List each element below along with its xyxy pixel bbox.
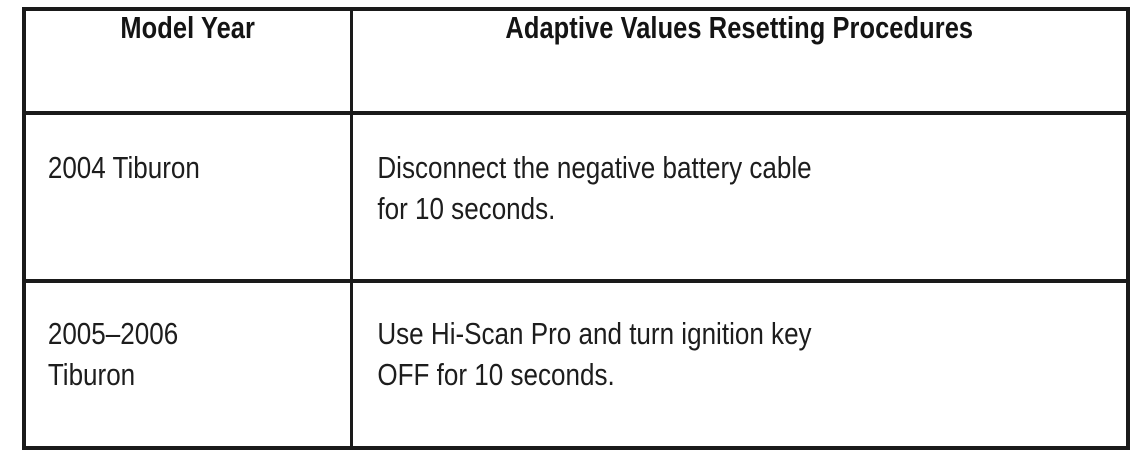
cell-procedure-text: Use Hi-Scan Pro and turn ignition key OF… [353,283,1003,395]
column-header-procedures-label: Adaptive Values Resetting Procedures [422,11,1056,45]
table-body: 2004 Tiburon Disconnect the negative bat… [24,113,1128,448]
cell-procedure: Disconnect the negative battery cable fo… [351,113,1128,281]
figure-canvas: Model Year Adaptive Values Resetting Pro… [0,0,1147,461]
cell-procedure: Use Hi-Scan Pro and turn ignition key OF… [351,281,1128,449]
column-header-model-year: Model Year [53,9,321,113]
table-header-row: Model Year Adaptive Values Resetting Pro… [24,9,1128,113]
cell-model-year: 2004 Tiburon [24,113,351,281]
cell-procedure-text: Disconnect the negative battery cable fo… [353,115,1003,229]
column-header-procedures: Adaptive Values Resetting Procedures [421,9,1058,113]
adaptive-values-table: Model Year Adaptive Values Resetting Pro… [22,7,1130,450]
cell-model-year: 2005–2006 Tiburon [24,281,351,449]
table-row: 2005–2006 Tiburon Use Hi-Scan Pro and tu… [24,281,1128,449]
cell-model-year-text: 2004 Tiburon [26,115,298,188]
table-header: Model Year Adaptive Values Resetting Pro… [24,9,1128,113]
column-header-model-year-label: Model Year [55,11,320,45]
cell-model-year-text: 2005–2006 Tiburon [26,283,298,395]
table-row: 2004 Tiburon Disconnect the negative bat… [24,113,1128,281]
